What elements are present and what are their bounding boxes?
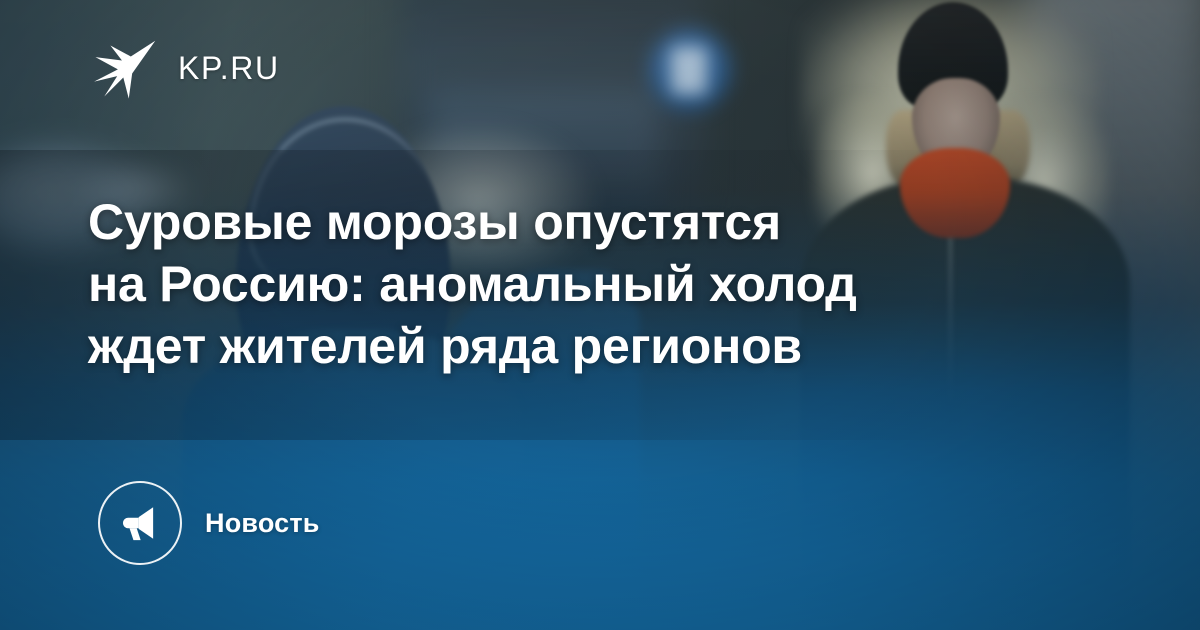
brand-name: KP.RU <box>178 52 280 84</box>
swallow-bird-logo-icon <box>90 34 158 102</box>
badge-circle <box>98 481 182 565</box>
status-badge[interactable]: Новость <box>98 481 320 565</box>
news-share-card: KP.RU Суровые морозы опустятся на Россию… <box>0 0 1200 630</box>
page-title: Суровые морозы опустятся на Россию: аном… <box>88 191 1108 377</box>
badge-label: Новость <box>205 510 320 537</box>
brand-lockup[interactable]: KP.RU <box>90 34 280 102</box>
card-content: KP.RU Суровые морозы опустятся на Россию… <box>0 0 1200 630</box>
megaphone-icon <box>119 502 161 544</box>
